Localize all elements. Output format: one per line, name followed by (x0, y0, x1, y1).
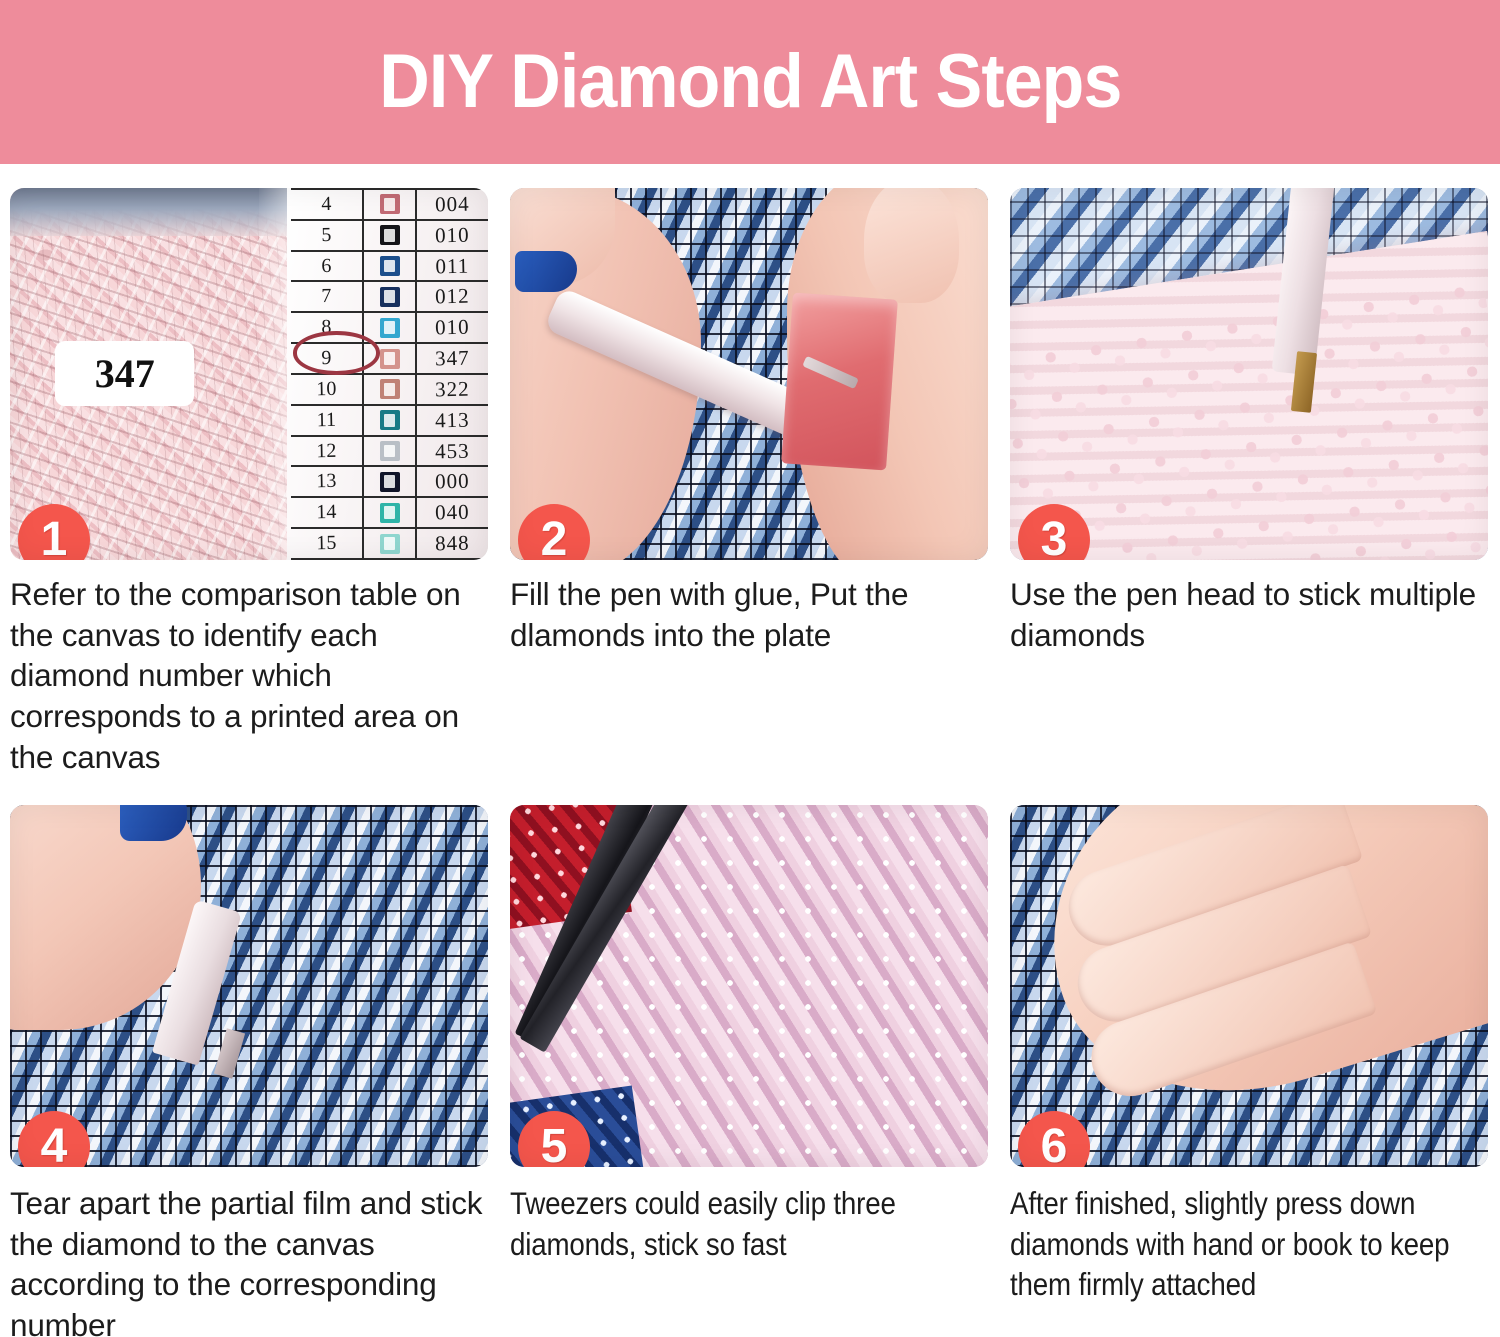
chart-row-color-code: 010 (417, 314, 488, 340)
chart-row: 13000 (291, 467, 488, 498)
step-caption-1: Refer to the comparison table on the can… (10, 574, 490, 777)
page-title: DIY Diamond Art Steps (379, 44, 1121, 120)
chart-row-swatch-cell (362, 467, 417, 496)
chart-row: 15848 (291, 529, 488, 560)
chart-row-color-code: 012 (417, 284, 488, 310)
steps-grid: 347 400450106011701280109347103221141312… (0, 164, 1500, 1337)
chart-row-color-code: 010 (417, 222, 488, 248)
step-card-1: 347 400450106011701280109347103221141312… (10, 188, 500, 777)
step-image-4: 4 (10, 805, 488, 1167)
step-card-2: 2 Fill the pen with glue, Put the dlamon… (510, 188, 1000, 777)
chart-row-swatch-cell (362, 437, 417, 466)
chart-row-index: 14 (291, 500, 362, 524)
chart-row-index: 15 (291, 531, 362, 555)
chart-row: 5010 (291, 221, 488, 252)
photo-diamond-bag-and-chart: 347 400450106011701280109347103221141312… (10, 188, 488, 560)
color-swatch-icon (380, 379, 400, 399)
step-card-3: 3 Use the pen head to stick multiple dia… (1010, 188, 1500, 777)
step-caption-5: Tweezers could easily clip three diamond… (510, 1183, 990, 1264)
step-image-1: 347 400450106011701280109347103221141312… (10, 188, 488, 560)
chart-row: 12453 (291, 437, 488, 468)
color-swatch-icon (380, 287, 400, 307)
chart-row-swatch-cell (362, 252, 417, 281)
chart-row: 14040 (291, 498, 488, 529)
step-card-4: 4 Tear apart the partial film and stick … (10, 805, 500, 1337)
chart-row-color-code: 011 (417, 253, 488, 279)
chart-row-swatch-cell (362, 344, 417, 373)
header-banner: DIY Diamond Art Steps (0, 0, 1500, 164)
chart-row: 8010 (291, 313, 488, 344)
color-swatch-icon (380, 225, 400, 245)
chart-row: 6011 (291, 252, 488, 283)
blue-pen-cap (515, 251, 577, 292)
step-caption-4: Tear apart the partial film and stick th… (10, 1183, 490, 1337)
step-card-6: 6 After finished, slightly press down di… (1010, 805, 1500, 1337)
chart-row-swatch-cell (362, 221, 417, 250)
color-swatch-icon (380, 472, 400, 492)
step-image-5: 5 (510, 805, 988, 1167)
color-swatch-icon (380, 410, 400, 430)
drill-number-label: 347 (55, 341, 194, 406)
drill-number-value: 347 (95, 350, 155, 397)
chart-row-index: 11 (291, 408, 362, 432)
step-card-5: 5 Tweezers could easily clip three diamo… (510, 805, 1000, 1337)
chart-row: 4004 (291, 188, 488, 221)
chart-row-color-code: 453 (417, 438, 488, 464)
step-image-2: 2 (510, 188, 988, 560)
chart-row-swatch-cell (362, 282, 417, 311)
chart-row-index: 12 (291, 439, 362, 463)
step-caption-2: Fill the pen with glue, Put the dlamonds… (510, 574, 990, 655)
step-image-3: 3 (1010, 188, 1488, 560)
chart-row-swatch-cell (362, 375, 417, 404)
chart-row-index: 5 (291, 223, 362, 247)
right-thumb (864, 188, 960, 303)
photo-pen-head-tray (1010, 188, 1488, 560)
step-image-6: 6 (1010, 805, 1488, 1167)
chart-row-index: 6 (291, 254, 362, 278)
photo-placing-diamond (10, 805, 488, 1167)
chart-row-color-code: 848 (417, 530, 488, 556)
chart-row-color-code: 347 (417, 345, 488, 371)
photo-tweezers-diamonds (510, 805, 988, 1167)
color-swatch-icon (380, 503, 400, 523)
pen-tip (214, 1028, 245, 1078)
chart-row-swatch-cell (362, 190, 417, 219)
chart-row-swatch-cell (362, 498, 417, 527)
chart-row: 7012 (291, 282, 488, 313)
chart-row: 11413 (291, 406, 488, 437)
color-swatch-icon (380, 349, 400, 369)
photo-pressing-canvas (1010, 805, 1488, 1167)
chart-row-index: 10 (291, 377, 362, 401)
photo-pen-and-glue (510, 188, 988, 560)
chart-row-swatch-cell (362, 313, 417, 342)
color-swatch-icon (380, 441, 400, 461)
chart-row-color-code: 000 (417, 469, 488, 495)
chart-row-index: 8 (291, 315, 362, 339)
color-swatch-icon (380, 256, 400, 276)
step-caption-3: Use the pen head to stick multiple diamo… (1010, 574, 1490, 655)
chart-row-color-code: 004 (417, 191, 488, 217)
chart-row-color-code: 413 (417, 407, 488, 433)
color-swatch-icon (380, 534, 400, 554)
chart-row-index: 7 (291, 285, 362, 309)
chart-row-index: 9 (291, 346, 362, 370)
color-swatch-icon (380, 194, 400, 214)
chart-row: 10322 (291, 375, 488, 406)
chart-row-swatch-cell (362, 406, 417, 435)
chart-row-swatch-cell (362, 529, 417, 558)
chart-row-color-code: 040 (417, 499, 488, 525)
chart-row-color-code: 322 (417, 376, 488, 402)
color-swatch-icon (380, 318, 400, 338)
chart-row-index: 13 (291, 470, 362, 494)
chart-row-index: 4 (291, 192, 362, 216)
step-caption-6: After finished, slightly press down diam… (1010, 1183, 1490, 1305)
color-comparison-table: 4004501060117012801093471032211413124531… (287, 188, 488, 560)
chart-row: 9347 (291, 344, 488, 375)
